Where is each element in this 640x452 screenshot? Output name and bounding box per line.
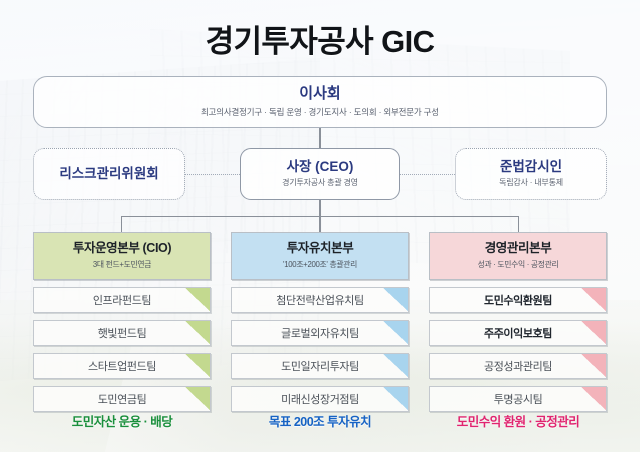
connector-bus-to-division-3 [518, 216, 519, 232]
page-title: 경기투자공사 GIC [0, 16, 640, 61]
team-label: 도민일자리투자팀 [281, 358, 359, 374]
team-label: 투명공시팀 [494, 391, 543, 407]
ceo-box: 사장 (CEO) 경기투자공사 총괄 경영 [240, 148, 400, 200]
division-column-management: 경영관리본부 성과 · 도민수익 · 공정관리 도민수익환원팀 주주이익보호팀 … [429, 232, 607, 412]
team-label: 글로벌외자유치팀 [281, 325, 359, 341]
risk-committee-title: 리스크관리위원회 [59, 167, 158, 182]
team-row[interactable]: 도민일자리투자팀 [231, 353, 409, 379]
board-subtitle: 최고의사결정기구 · 독립 운영 · 경기도지사 · 도의회 · 외부전문가 구… [201, 106, 439, 118]
org-chart-canvas: 경기투자공사 GIC 이사회 최고의사결정기구 · 독립 운영 · 경기도지사 … [0, 0, 640, 452]
ceo-subtitle: 경기투자공사 총괄 경영 [282, 177, 358, 188]
team-row[interactable]: 미래신성장거점팀 [231, 386, 409, 412]
team-label: 주주이익보호팀 [484, 325, 552, 341]
division-subtitle: '100조+200조' 총괄관리 [283, 259, 357, 270]
connector-bus-to-division-1 [121, 216, 122, 232]
team-row[interactable]: 첨단전략산업유치팀 [231, 287, 409, 313]
team-label: 도민수익환원팀 [484, 292, 552, 308]
team-row[interactable]: 인프라펀드팀 [33, 287, 211, 313]
division-column-investment-operations: 투자운영본부 (CIO) 3대 펀드+도민연금 인프라펀드팀 햇빛펀드팀 스타트… [33, 232, 211, 412]
team-label: 스타트업펀드팀 [88, 358, 156, 374]
team-row[interactable]: 글로벌외자유치팀 [231, 320, 409, 346]
team-label: 도민연금팀 [98, 391, 147, 407]
division-footer-management: 도민수익 환원 · 공정관리 [429, 411, 607, 430]
compliance-officer-box: 준법감시인 독립감사 · 내부통제 [455, 148, 607, 200]
team-label: 미래신성장거점팀 [281, 391, 359, 407]
division-subtitle: 3대 펀드+도민연금 [93, 259, 151, 270]
team-label: 인프라펀드팀 [93, 292, 151, 308]
team-label: 첨단전략산업유치팀 [276, 292, 363, 308]
team-row[interactable]: 공정성과관리팀 [429, 353, 607, 379]
team-label: 햇빛펀드팀 [98, 325, 147, 341]
team-row[interactable]: 도민연금팀 [33, 386, 211, 412]
connector-risk-to-ceo [185, 174, 240, 175]
board-of-directors-box: 이사회 최고의사결정기구 · 독립 운영 · 경기도지사 · 도의회 · 외부전… [33, 76, 607, 128]
team-row[interactable]: 햇빛펀드팀 [33, 320, 211, 346]
board-title: 이사회 [299, 86, 340, 103]
division-header-management: 경영관리본부 성과 · 도민수익 · 공정관리 [429, 232, 607, 280]
division-title: 경영관리본부 [485, 242, 552, 256]
team-row[interactable]: 스타트업펀드팀 [33, 353, 211, 379]
division-title: 투자운영본부 (CIO) [73, 242, 171, 256]
division-footer-investment-operations: 도민자산 운용 · 배당 [33, 411, 211, 430]
division-header-investment-operations: 투자운영본부 (CIO) 3대 펀드+도민연금 [33, 232, 211, 280]
compliance-officer-subtitle: 독립감사 · 내부통제 [499, 177, 563, 188]
division-title: 투자유치본부 [287, 242, 354, 256]
connector-horizontal-bus [121, 216, 519, 217]
division-header-investment-attraction: 투자유치본부 '100조+200조' 총괄관리 [231, 232, 409, 280]
risk-management-committee-box: 리스크관리위원회 [33, 148, 185, 200]
ceo-title: 사장 (CEO) [287, 160, 354, 175]
division-subtitle: 성과 · 도민수익 · 공정관리 [478, 259, 559, 270]
division-footer-investment-attraction: 목표 200조 투자유치 [231, 411, 409, 430]
compliance-officer-title: 준법감시인 [500, 160, 562, 175]
team-label: 공정성과관리팀 [484, 358, 552, 374]
team-row[interactable]: 주주이익보호팀 [429, 320, 607, 346]
division-column-investment-attraction: 투자유치본부 '100조+200조' 총괄관리 첨단전략산업유치팀 글로벌외자유… [231, 232, 409, 412]
team-row[interactable]: 투명공시팀 [429, 386, 607, 412]
team-row[interactable]: 도민수익환원팀 [429, 287, 607, 313]
connector-ceo-to-compliance [400, 174, 455, 175]
connector-board-to-ceo [319, 128, 320, 148]
